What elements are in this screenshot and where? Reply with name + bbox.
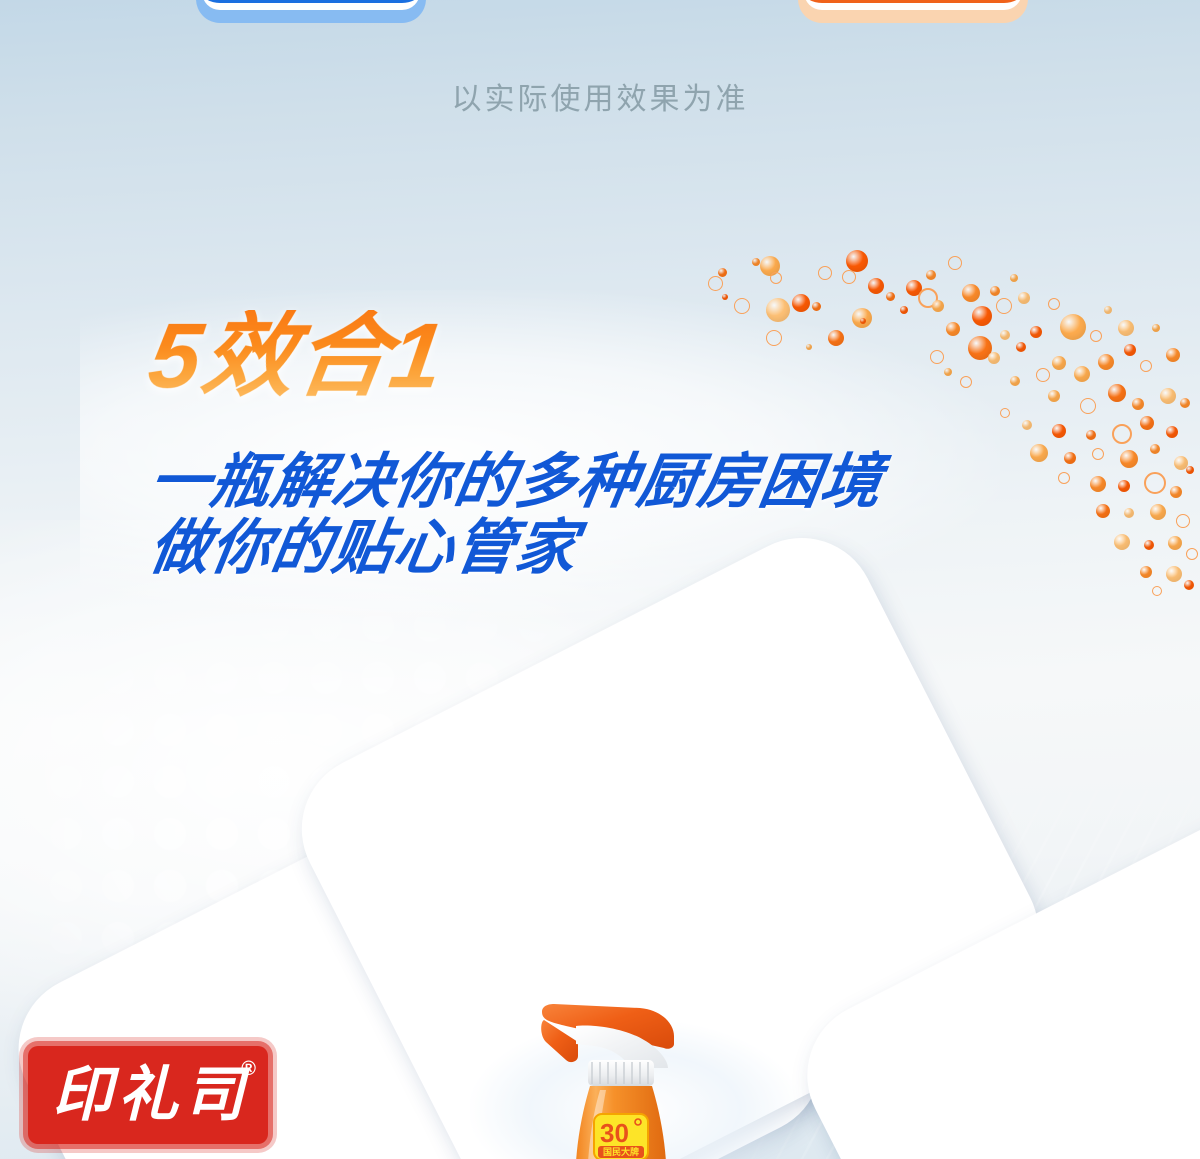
brand-stamp: 印礼司 ® <box>28 1046 268 1144</box>
bubble <box>1124 508 1134 518</box>
bubble <box>1170 486 1182 498</box>
bubble <box>944 368 952 376</box>
svg-text:30: 30 <box>600 1118 629 1148</box>
bubble <box>886 292 895 301</box>
bubble <box>1048 390 1060 402</box>
headline-line-2: 做你的贴心管家 <box>145 518 582 578</box>
bubble <box>1030 444 1048 462</box>
bubble <box>812 302 821 311</box>
bubble <box>1060 314 1086 340</box>
bubble <box>752 258 760 266</box>
bubble <box>972 306 992 326</box>
poster-canvas: 以实际使用效果为准 5效合1 一瓶解决你的多种厨房困境 做你的贴心管家 01 <box>0 0 1200 1159</box>
bubble <box>996 298 1012 314</box>
bubble <box>792 294 810 312</box>
bubble <box>1152 324 1160 332</box>
bubble <box>1180 398 1190 408</box>
bubble <box>1058 472 1070 484</box>
bubble <box>948 256 962 270</box>
bubble <box>718 268 727 277</box>
bubble <box>900 306 908 314</box>
bubble <box>1052 424 1066 438</box>
bubble <box>1150 504 1166 520</box>
bubble <box>1104 306 1112 314</box>
bubble <box>766 298 790 322</box>
bubble <box>1118 320 1134 336</box>
bubble <box>1030 326 1042 338</box>
bubble <box>1150 444 1160 454</box>
bubble <box>1140 566 1152 578</box>
bubble <box>1120 450 1138 468</box>
bubble <box>760 256 780 276</box>
bubble <box>1108 384 1126 402</box>
bubble <box>988 352 1000 364</box>
bubble <box>1096 504 1110 518</box>
bubble <box>1090 330 1102 342</box>
bubble <box>946 322 960 336</box>
subcaption: 以实际使用效果为准 <box>0 74 1200 118</box>
bubble <box>1144 472 1166 494</box>
bubble <box>1000 408 1010 418</box>
bubble <box>1186 466 1194 474</box>
top-tab-orange <box>804 0 1022 10</box>
bubble <box>1144 540 1154 550</box>
bubble <box>926 270 936 280</box>
top-tab-blue <box>202 0 420 10</box>
feature-card-03-row: 03 <box>930 1119 1161 1159</box>
bubble <box>1118 480 1130 492</box>
bubble <box>1184 580 1194 590</box>
bubble <box>960 376 972 388</box>
bubble <box>770 272 782 284</box>
bubble <box>1022 420 1032 430</box>
bubble <box>1018 292 1030 304</box>
bubble <box>1152 586 1162 596</box>
bubble <box>1166 566 1182 582</box>
bubble <box>1098 354 1114 370</box>
bubble <box>1064 452 1076 464</box>
bubble <box>708 276 723 291</box>
bubble <box>1132 398 1144 410</box>
bubble <box>1036 368 1050 382</box>
top-tab-orange-inner <box>804 0 1022 10</box>
bubble <box>1166 426 1178 438</box>
bubble <box>1114 534 1130 550</box>
bubble <box>1010 376 1020 386</box>
bubble <box>1140 416 1154 430</box>
bubble <box>1112 424 1132 444</box>
bubble <box>932 300 944 312</box>
bubble <box>968 336 992 360</box>
bubble <box>1048 298 1060 310</box>
bubble <box>1092 448 1104 460</box>
registered-mark: ® <box>241 1058 256 1081</box>
bubble <box>860 318 866 324</box>
bubble <box>818 266 832 280</box>
bubble <box>846 250 868 272</box>
bubble <box>1000 330 1010 340</box>
bubble <box>828 330 844 346</box>
bubble <box>930 350 944 364</box>
bubble <box>1086 430 1096 440</box>
spray-bottle: 30 国民大牌 <box>532 1002 732 1159</box>
bubble <box>1124 344 1136 356</box>
bubble <box>766 330 782 346</box>
bubble <box>722 294 728 300</box>
bubble <box>1168 536 1182 550</box>
bubble <box>906 280 922 296</box>
bubble <box>1176 514 1190 528</box>
brand-stamp-text: 印礼司 <box>46 1065 250 1125</box>
feature-card-02-number: 02 <box>554 801 673 908</box>
bubble-decoration <box>700 248 1200 593</box>
bubble <box>842 270 856 284</box>
bubble <box>806 344 812 350</box>
bubble <box>1160 388 1176 404</box>
bubble <box>918 288 938 308</box>
bubble <box>1074 366 1090 382</box>
bubble <box>868 278 884 294</box>
bubble <box>1174 456 1188 470</box>
headline-title: 5效合1 <box>144 310 451 402</box>
bubble <box>962 284 980 302</box>
bubble <box>734 298 750 314</box>
spray-bottle-no-odor-sparkle-icon <box>1049 1119 1162 1159</box>
bubble <box>1010 274 1018 282</box>
top-tab-blue-inner <box>202 0 420 10</box>
bubble <box>990 286 1000 296</box>
bubble <box>1080 398 1096 414</box>
headline-line-1: 一瓶解决你的多种厨房困境 <box>145 452 887 512</box>
svg-text:国民大牌: 国民大牌 <box>603 1146 639 1157</box>
bubble <box>1016 342 1026 352</box>
bubble <box>1140 360 1152 372</box>
bubble <box>1052 356 1066 370</box>
bubble <box>1166 348 1180 362</box>
bubble <box>1090 476 1106 492</box>
bubble <box>1186 548 1198 560</box>
bubble <box>852 308 872 328</box>
